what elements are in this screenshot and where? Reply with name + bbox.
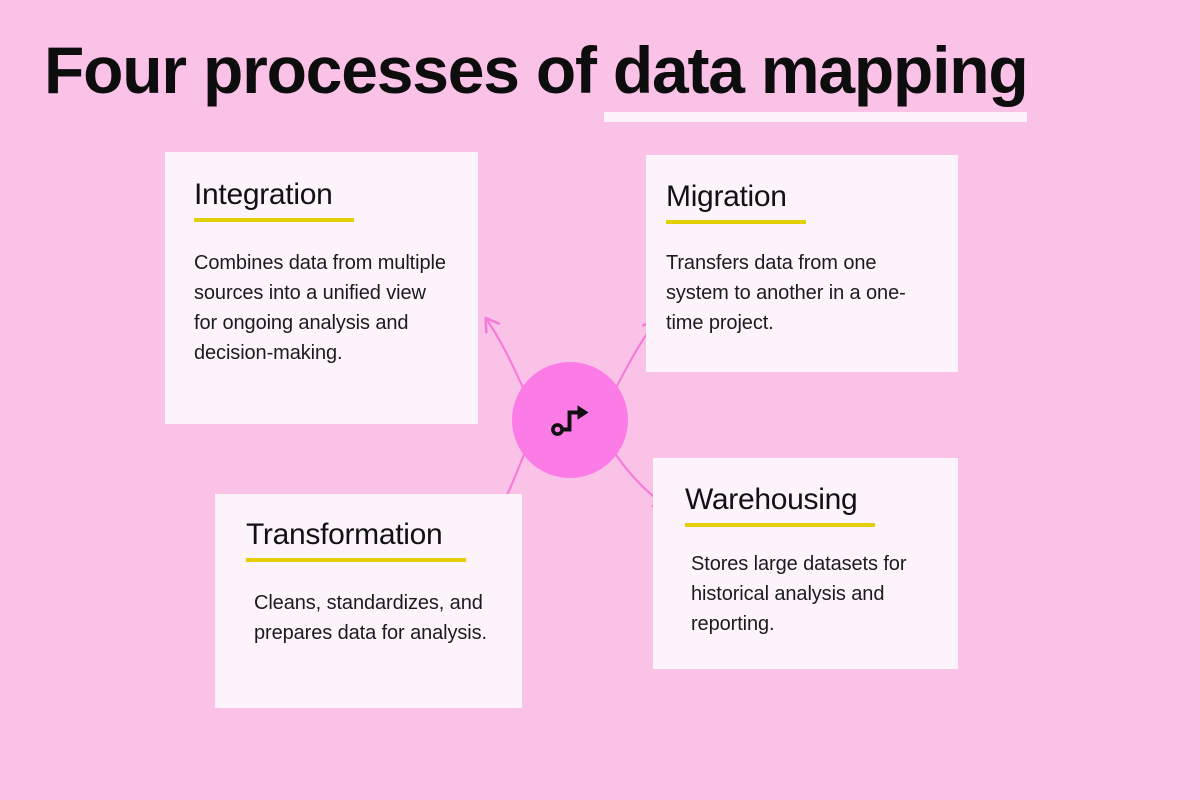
card-migration-title: Migration <box>666 180 787 214</box>
card-integration-body: Combines data from multiple sources into… <box>194 248 454 368</box>
center-hub <box>512 362 628 478</box>
card-migration-heading: Migration <box>666 180 938 224</box>
card-integration-heading: Integration <box>194 178 454 222</box>
card-integration-title: Integration <box>194 178 332 212</box>
data-flow-route-icon <box>548 398 592 442</box>
card-transformation-title: Transformation <box>246 518 442 552</box>
card-migration[interactable]: Migration Transfers data from one system… <box>646 155 958 372</box>
title-underline-bar <box>604 112 1027 122</box>
card-transformation-heading: Transformation <box>246 518 500 562</box>
card-integration-rule <box>194 218 354 222</box>
card-warehousing-rule <box>685 523 875 527</box>
card-transformation-rule <box>246 558 466 562</box>
card-transformation-body: Cleans, standardizes, and prepares data … <box>246 588 500 648</box>
arrow-hub-to-integration <box>487 320 525 392</box>
card-warehousing-body: Stores large datasets for historical ana… <box>685 549 938 639</box>
title-block: Four processes of data mapping <box>44 34 1104 106</box>
card-warehousing[interactable]: Warehousing Stores large datasets for hi… <box>653 458 958 669</box>
page-title: Four processes of data mapping <box>44 34 1104 106</box>
card-migration-rule <box>666 220 806 224</box>
card-transformation[interactable]: Transformation Cleans, standardizes, and… <box>215 494 522 708</box>
diagram-canvas: Four processes of data mapping Integrati… <box>0 0 1200 800</box>
card-integration[interactable]: Integration Combines data from multiple … <box>165 152 478 424</box>
card-migration-body: Transfers data from one system to anothe… <box>666 248 938 338</box>
card-warehousing-heading: Warehousing <box>685 483 938 527</box>
card-warehousing-title: Warehousing <box>685 483 857 517</box>
